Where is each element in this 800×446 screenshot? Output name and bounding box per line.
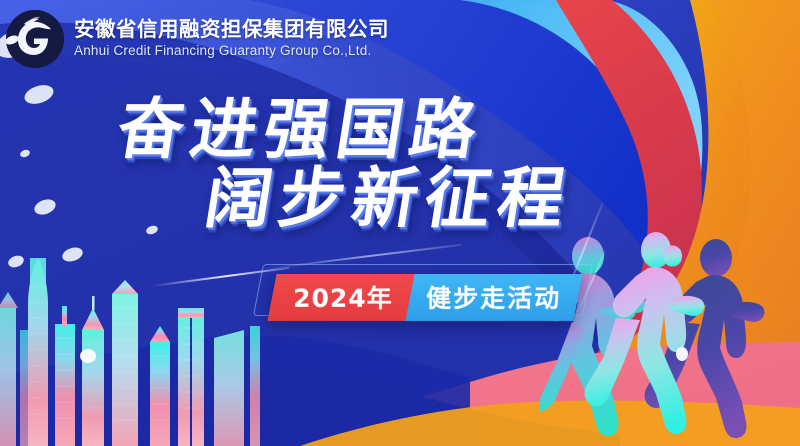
banner-year-label: 2024年 <box>293 279 393 315</box>
promotional-poster: 安徽省信用融资担保集团有限公司 Anhui Credit Financing G… <box>0 0 800 446</box>
event-banner: 2024年 健步走活动 <box>267 274 582 321</box>
speed-strokes <box>0 0 800 446</box>
banner-year: 2024年 <box>267 274 414 321</box>
banner-event: 健步走活动 <box>405 274 582 321</box>
banner-event-label: 健步走活动 <box>426 279 561 315</box>
